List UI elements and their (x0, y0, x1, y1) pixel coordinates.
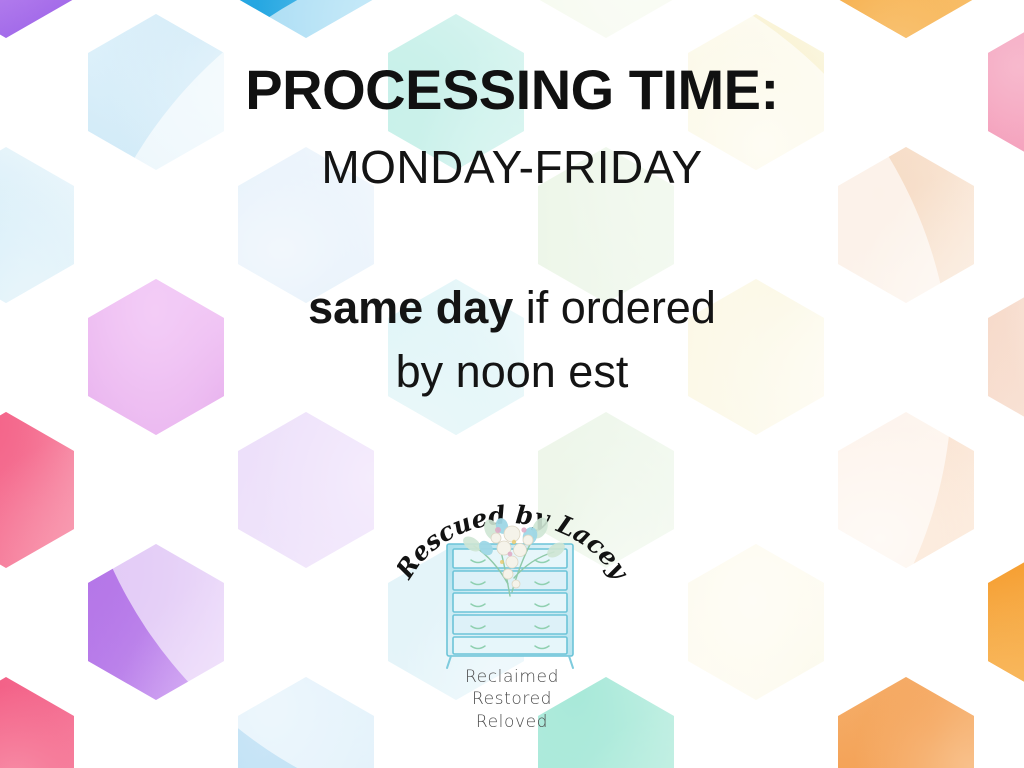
promo-emphasis: same day (308, 282, 513, 333)
page-title: PROCESSING TIME: (245, 62, 778, 118)
poster-canvas: PROCESSING TIME: MONDAY-FRIDAY same day … (0, 0, 1024, 768)
brand-logo: Rescued by Lacey (397, 486, 627, 736)
promo-rest: if ordered (513, 282, 716, 333)
brand-tagline: Reclaimed Restored Reloved (397, 666, 627, 733)
promo-text: same day if ordered by noon est (308, 276, 716, 404)
tagline-line-2: Restored (397, 688, 627, 710)
tagline-line-1: Reclaimed (397, 666, 627, 688)
subtitle: MONDAY-FRIDAY (321, 144, 702, 190)
floral-bouquet-illustration (452, 504, 572, 609)
tagline-line-3: Reloved (397, 711, 627, 733)
promo-line-2: by noon est (396, 346, 629, 397)
